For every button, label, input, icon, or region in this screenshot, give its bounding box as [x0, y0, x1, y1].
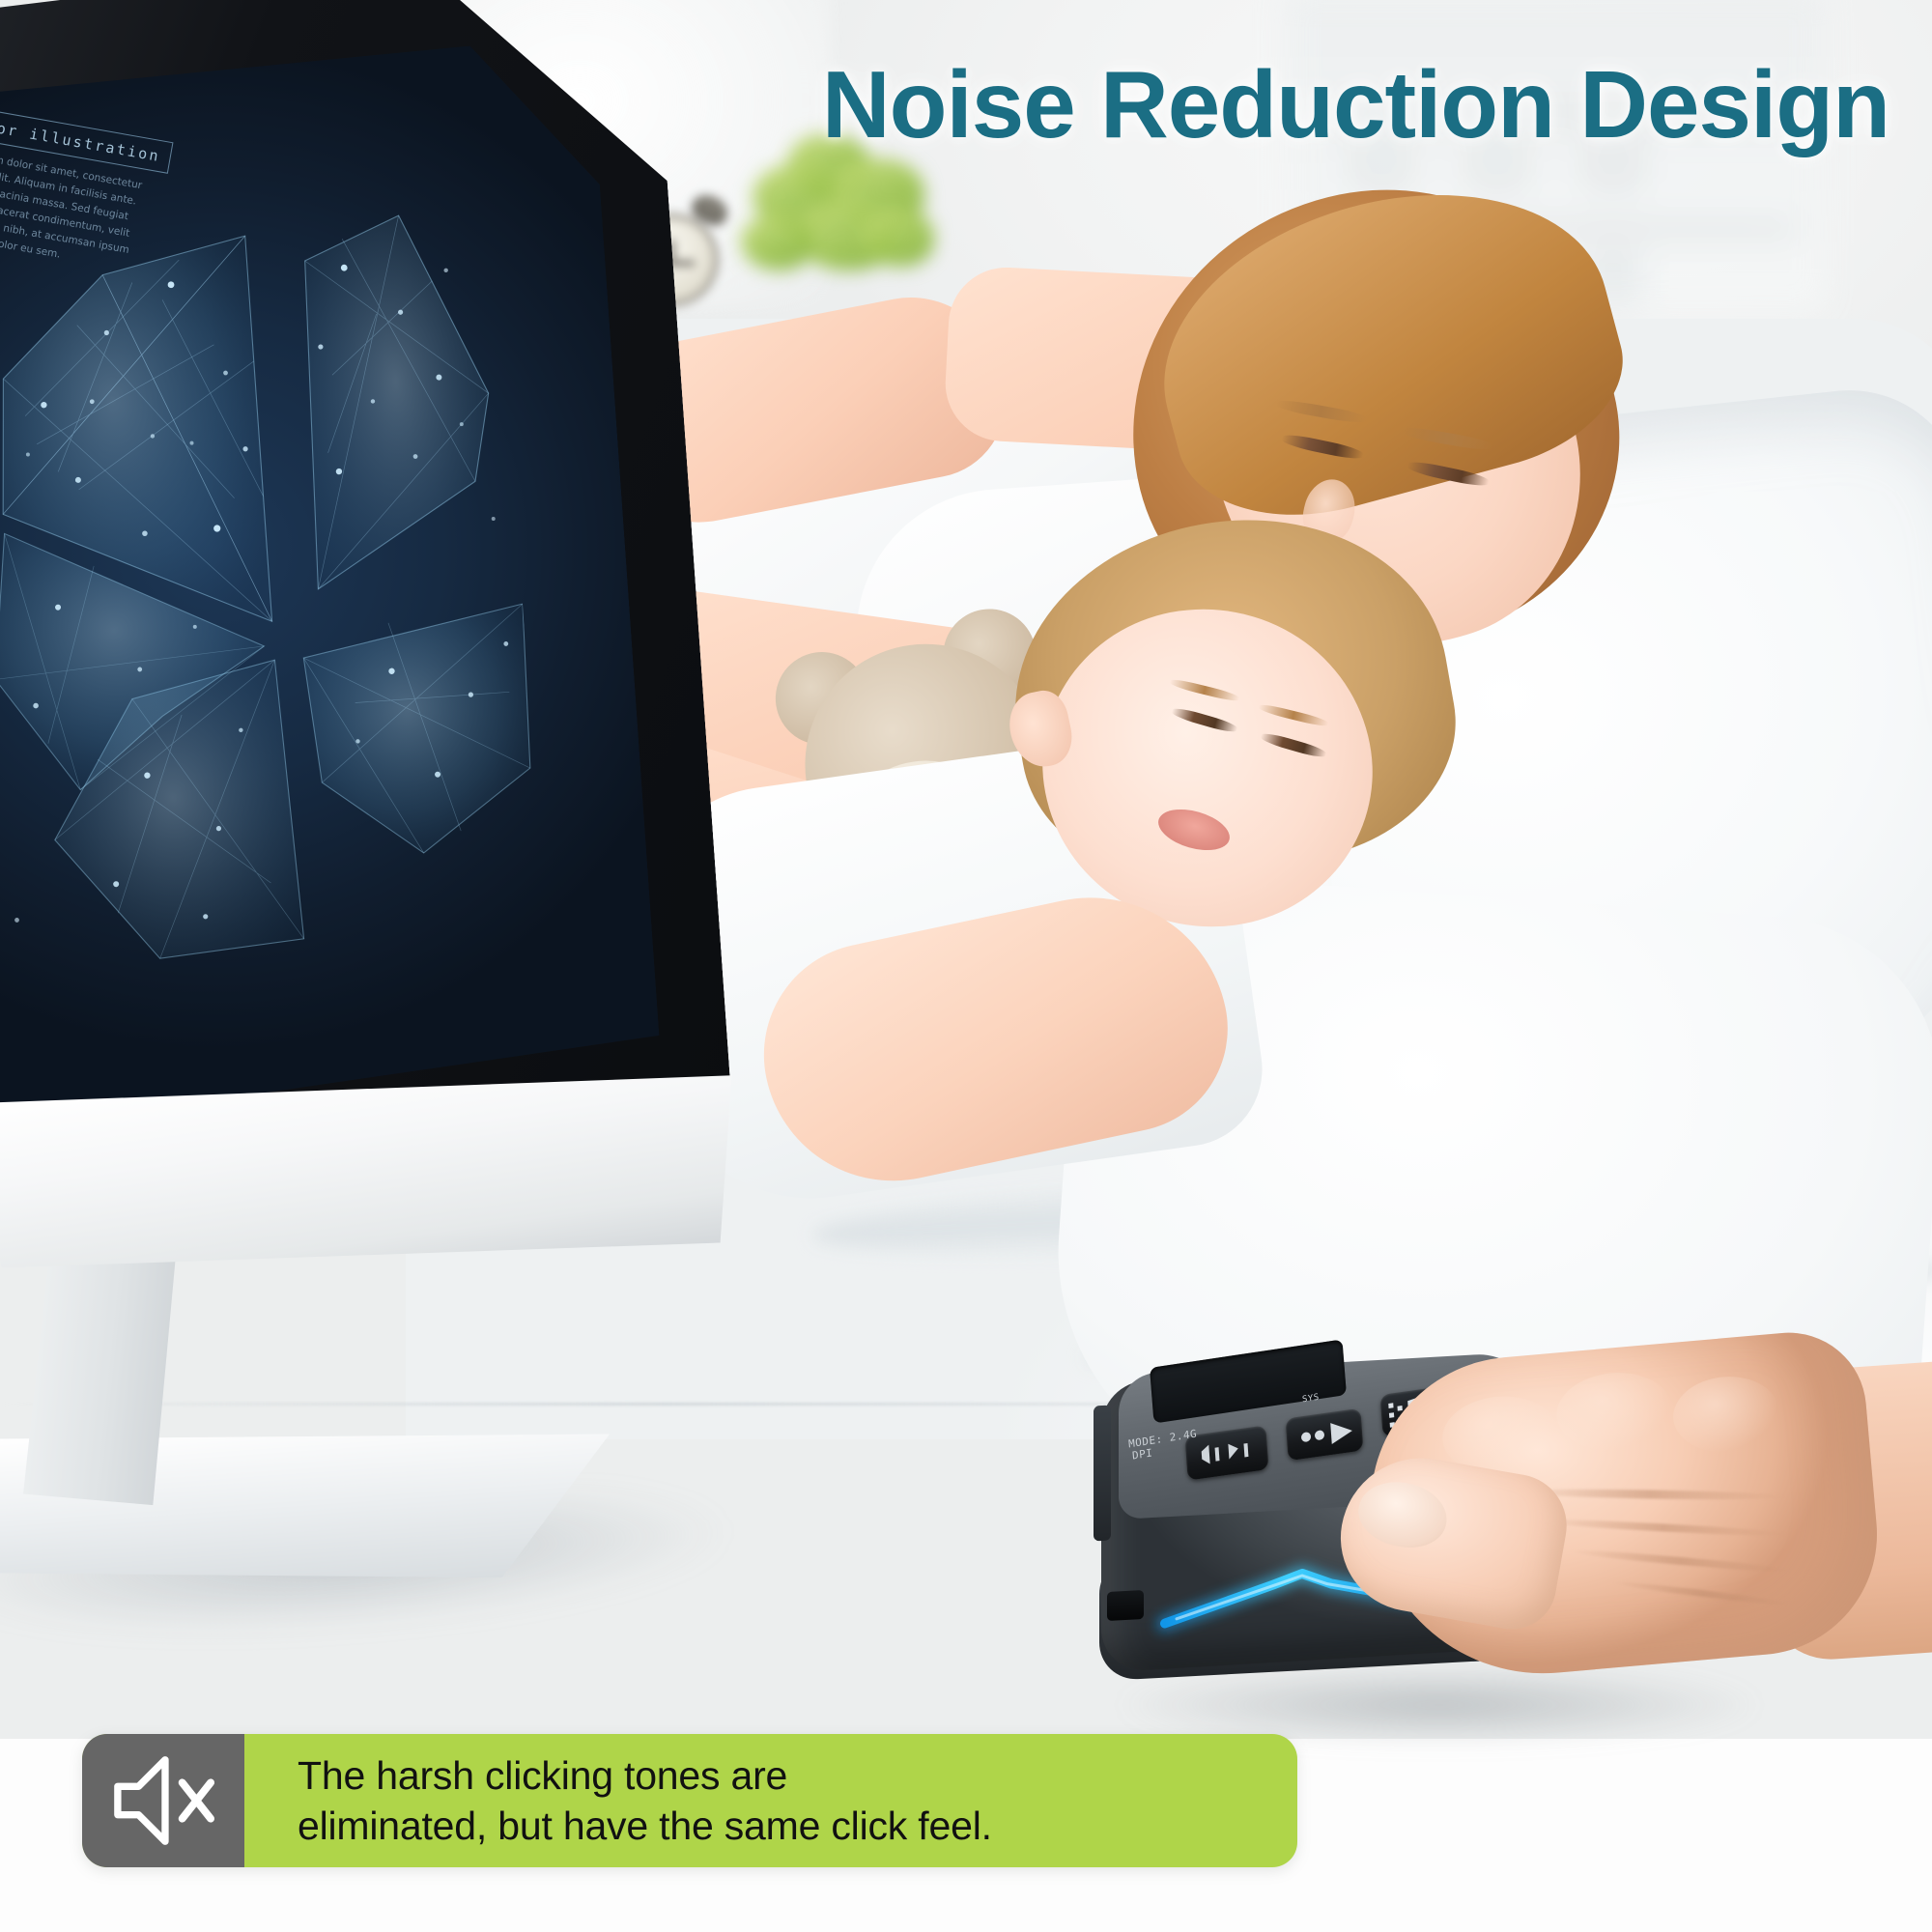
- mute-speaker-icon: [82, 1734, 244, 1867]
- caption-line-2: eliminated, but have the same click feel…: [298, 1801, 992, 1851]
- mouse-side-grip: [1094, 1406, 1111, 1542]
- screen-caption-block: vector illustration Lorem ipsum dolor si…: [0, 102, 165, 278]
- product-banner: vector illustration Lorem ipsum dolor si…: [0, 0, 1932, 1932]
- caption-text: The harsh clicking tones are eliminated,…: [244, 1734, 1297, 1867]
- mouse-shadow: [1121, 1666, 1758, 1744]
- all-in-one-monitor: vector illustration Lorem ipsum dolor si…: [0, 0, 865, 1535]
- wireframe-pie-chart: [0, 189, 547, 988]
- mouse-charging-port: [1107, 1590, 1144, 1621]
- page-title: Noise Reduction Design: [822, 50, 1889, 159]
- pie-slice-2: [293, 211, 501, 589]
- feature-caption-bar: The harsh clicking tones are eliminated,…: [82, 1734, 1297, 1867]
- monitor-screen: vector illustration Lorem ipsum dolor si…: [0, 38, 663, 1137]
- vertical-mouse-with-hand: MODE: 2.4G DPI SYS: [1082, 1348, 1932, 1763]
- caption-line-1: The harsh clicking tones are: [298, 1750, 992, 1801]
- pie-slice-3: [301, 604, 540, 860]
